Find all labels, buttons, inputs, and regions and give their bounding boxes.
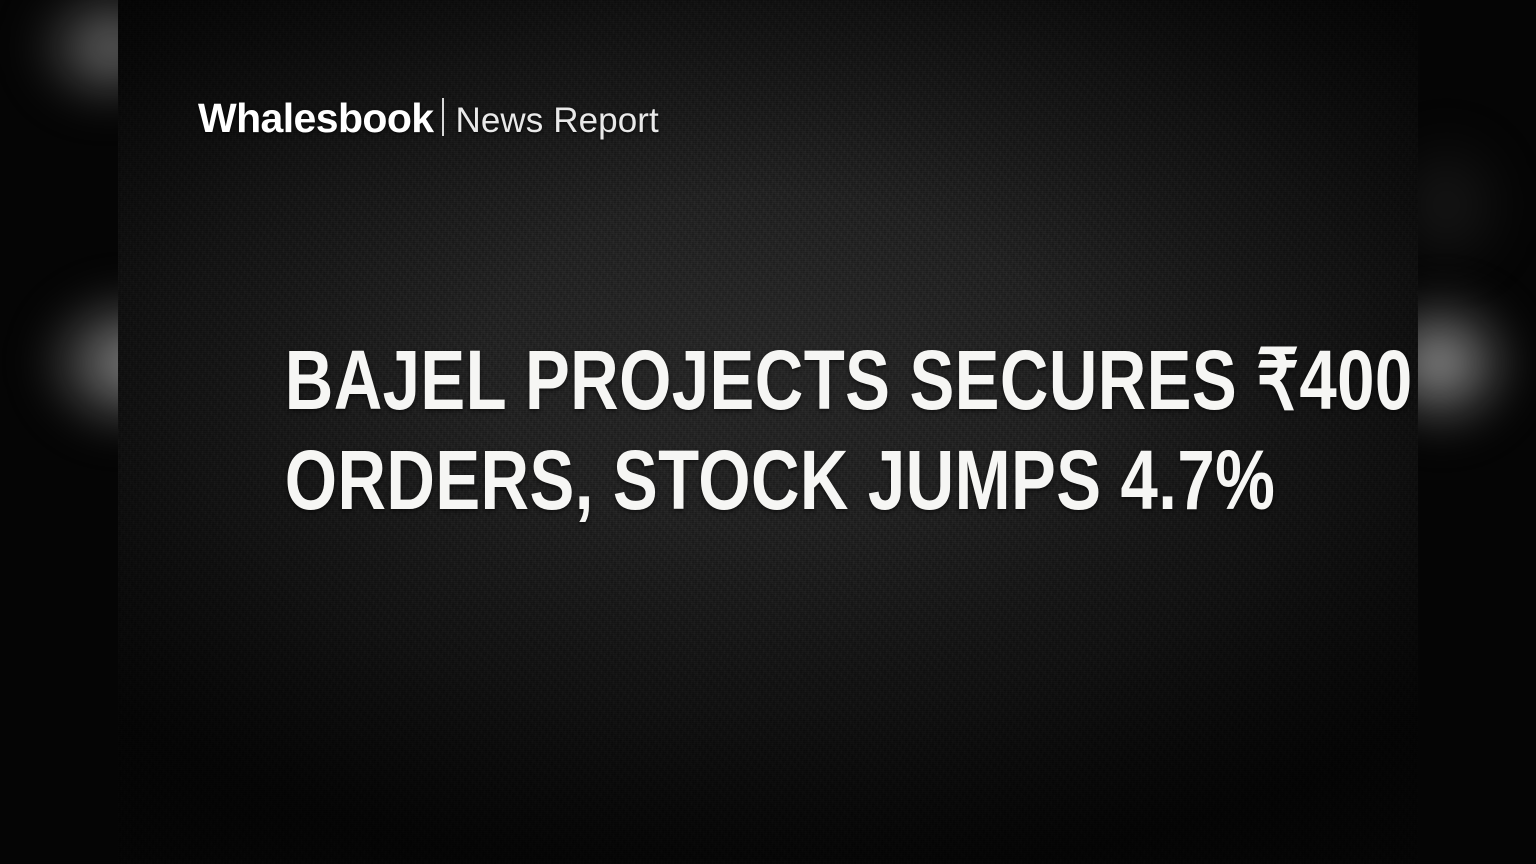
headline: BAJEL PROJECTS SECURES ₹400 CR MENA ORDE… — [118, 330, 1418, 530]
brand-subtitle: News Report — [455, 103, 658, 138]
brand-name: Whalesbook — [198, 98, 433, 139]
news-card-content: Whalesbook News Report BAJEL PROJECTS SE… — [118, 0, 1418, 864]
brand-lockup: Whalesbook News Report — [198, 94, 659, 139]
news-card-stage: Whalesbook News Report BAJEL PROJECTS SE… — [0, 0, 1536, 864]
brand-divider-icon — [442, 98, 444, 136]
headline-line-1: BAJEL PROJECTS SECURES ₹400 CR MENA — [285, 330, 1251, 430]
news-card-panel: Whalesbook News Report BAJEL PROJECTS SE… — [118, 0, 1418, 864]
headline-line-2: ORDERS, STOCK JUMPS 4.7% — [285, 430, 1251, 530]
